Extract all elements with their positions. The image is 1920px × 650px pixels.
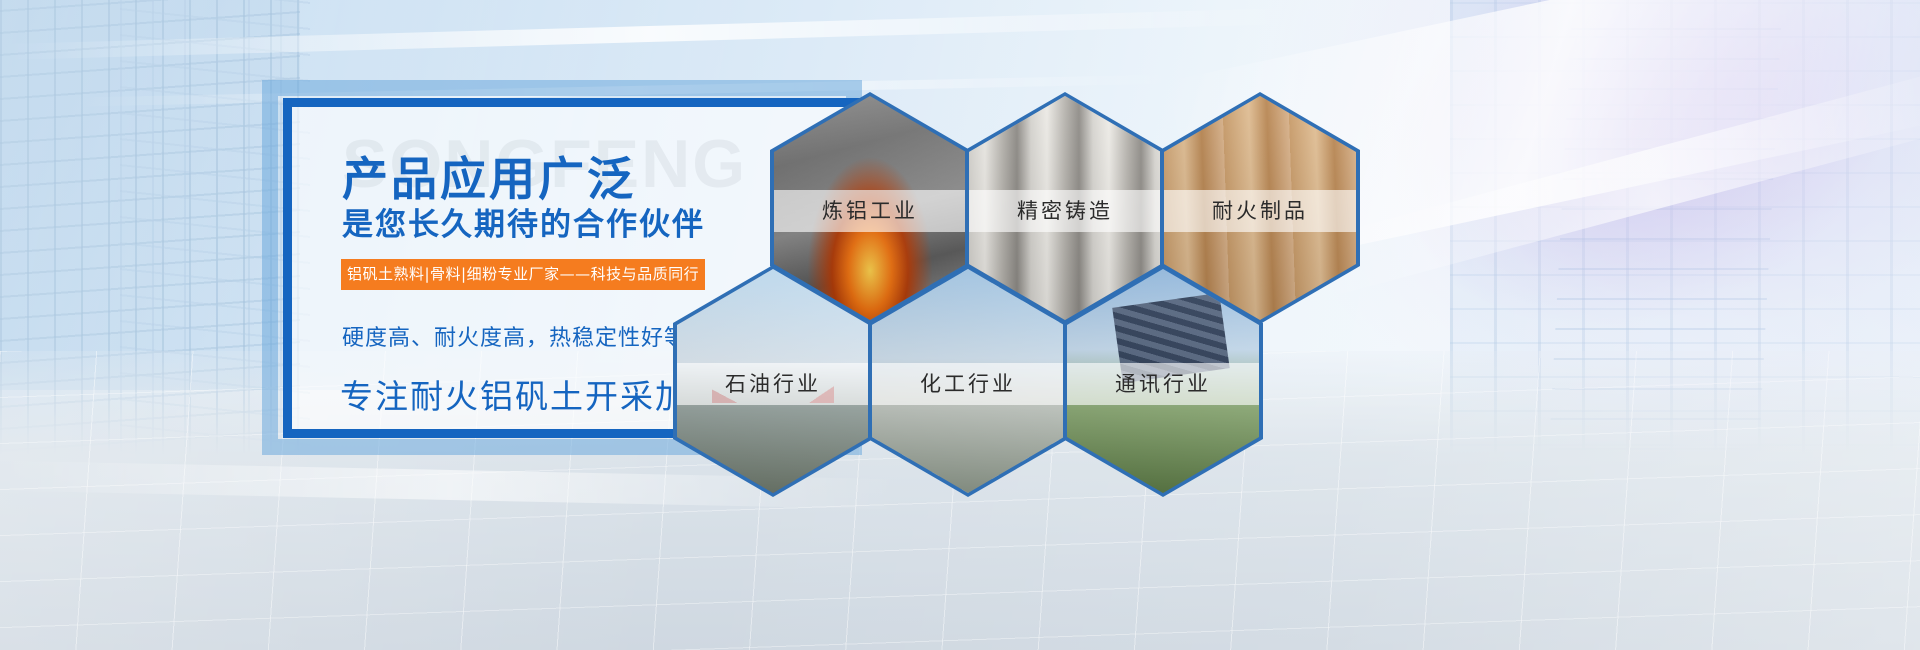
hex-label: 炼铝工业 <box>774 190 966 232</box>
hex-label: 通讯行业 <box>1067 363 1259 405</box>
headline-sub: 是您长久期待的合作伙伴 <box>342 199 705 244</box>
hex-label: 石油行业 <box>677 363 869 405</box>
orange-ribbon-text: 铝矾土熟料|骨料|细粉专业厂家——科技与品质同行 <box>341 259 705 290</box>
hex-label: 耐火制品 <box>1164 190 1356 232</box>
hex-label: 精密铸造 <box>969 190 1161 232</box>
hex-label: 化工行业 <box>872 363 1064 405</box>
hexagon-cluster: 炼铝工业 精密铸造 耐火制品 石油行业 <box>660 70 1280 560</box>
promo-banner: SONGFENG 产品应用广泛 是您长久期待的合作伙伴 铝矾土熟料|骨料|细粉专… <box>0 0 1920 650</box>
